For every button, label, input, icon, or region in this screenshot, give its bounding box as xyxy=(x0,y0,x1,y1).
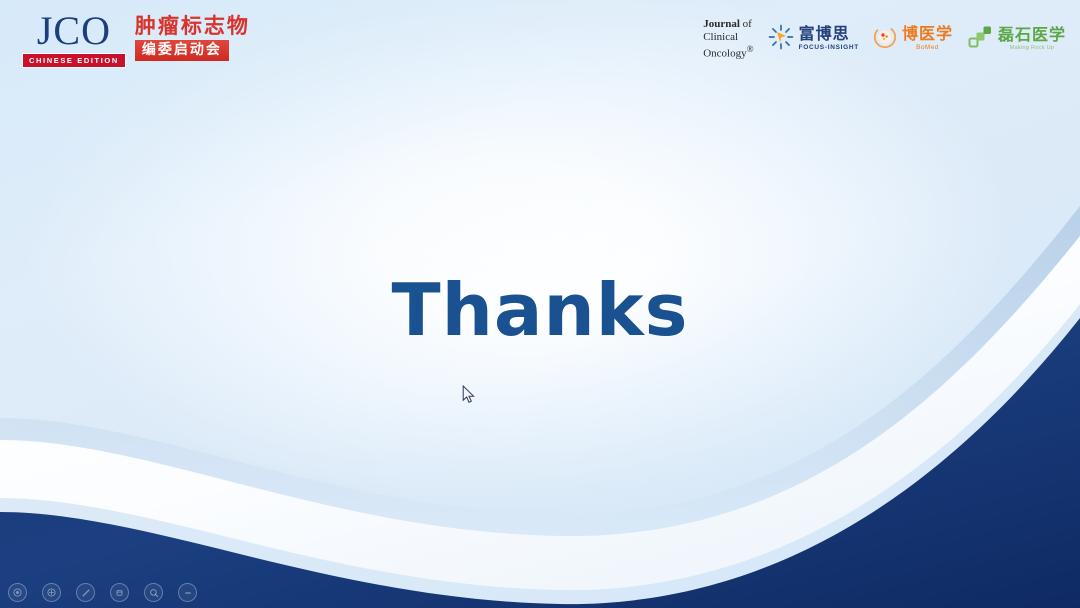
leishi-text: 磊石医学 Making Rock Up xyxy=(998,27,1066,52)
jco-wordmark: JCO xyxy=(37,12,111,50)
logo-leishi-medical: 磊石医学 Making Rock Up xyxy=(967,24,1066,55)
eraser-icon xyxy=(115,588,124,597)
pen-tool-button[interactable] xyxy=(76,583,95,602)
jco-logo: JCO CHINESE EDITION xyxy=(22,12,126,68)
event-title-block: 肿瘤标志物 编委启动会 xyxy=(135,15,250,61)
starburst-icon xyxy=(768,24,794,55)
circle-cell-icon xyxy=(873,25,897,54)
presentation-slide: JCO CHINESE EDITION 肿瘤标志物 编委启动会 Journal … xyxy=(0,0,1080,608)
zoom-tool-button[interactable] xyxy=(144,583,163,602)
slide-header: JCO CHINESE EDITION 肿瘤标志物 编委启动会 Journal … xyxy=(0,0,1080,88)
event-title-chinese: 肿瘤标志物 xyxy=(135,15,250,37)
leishi-en: Making Rock Up xyxy=(998,45,1066,52)
jco-edition-banner: CHINESE EDITION xyxy=(22,53,126,68)
jco-brand-lockup: JCO CHINESE EDITION 肿瘤标志物 编委启动会 xyxy=(22,12,250,68)
logo-bomed: 博医学 BoMed xyxy=(873,25,953,54)
stacked-blocks-icon xyxy=(967,24,993,55)
jco-journal-line2: Clinical xyxy=(703,31,753,44)
bomed-text: 博医学 BoMed xyxy=(902,26,953,52)
pen-icon xyxy=(81,588,91,598)
jco-journal-line1-bold: Journal xyxy=(703,18,740,30)
event-subtitle-banner: 编委启动会 xyxy=(135,40,229,61)
focus-insight-text: 富博思 FOCUS-INSIGHT xyxy=(799,26,859,52)
jco-journal-line3: Oncology xyxy=(703,48,746,60)
minus-icon xyxy=(183,588,193,598)
bomed-en: BoMed xyxy=(902,44,953,52)
page-title: Thanks xyxy=(0,268,1080,352)
bomed-cn: 博医学 xyxy=(902,24,953,43)
eraser-tool-button[interactable] xyxy=(110,583,129,602)
target-icon xyxy=(47,588,56,597)
jco-journal-line1-light: of xyxy=(743,18,752,30)
pointer-tool-button[interactable] xyxy=(8,583,27,602)
partner-logo-strip: Journal of Clinical Oncology® xyxy=(703,18,1066,61)
registered-mark: ® xyxy=(747,44,754,54)
magnifier-icon xyxy=(149,588,159,598)
more-tool-button[interactable] xyxy=(178,583,197,602)
presentation-toolbar[interactable] xyxy=(8,583,197,602)
logo-journal-of-clinical-oncology: Journal of Clinical Oncology® xyxy=(703,18,753,61)
laser-tool-button[interactable] xyxy=(42,583,61,602)
focus-insight-en: FOCUS-INSIGHT xyxy=(799,44,859,52)
leishi-cn: 磊石医学 xyxy=(998,25,1066,44)
logo-focus-insight: 富博思 FOCUS-INSIGHT xyxy=(768,24,859,55)
dot-circle-icon xyxy=(13,588,22,597)
focus-insight-cn: 富博思 xyxy=(799,24,850,43)
